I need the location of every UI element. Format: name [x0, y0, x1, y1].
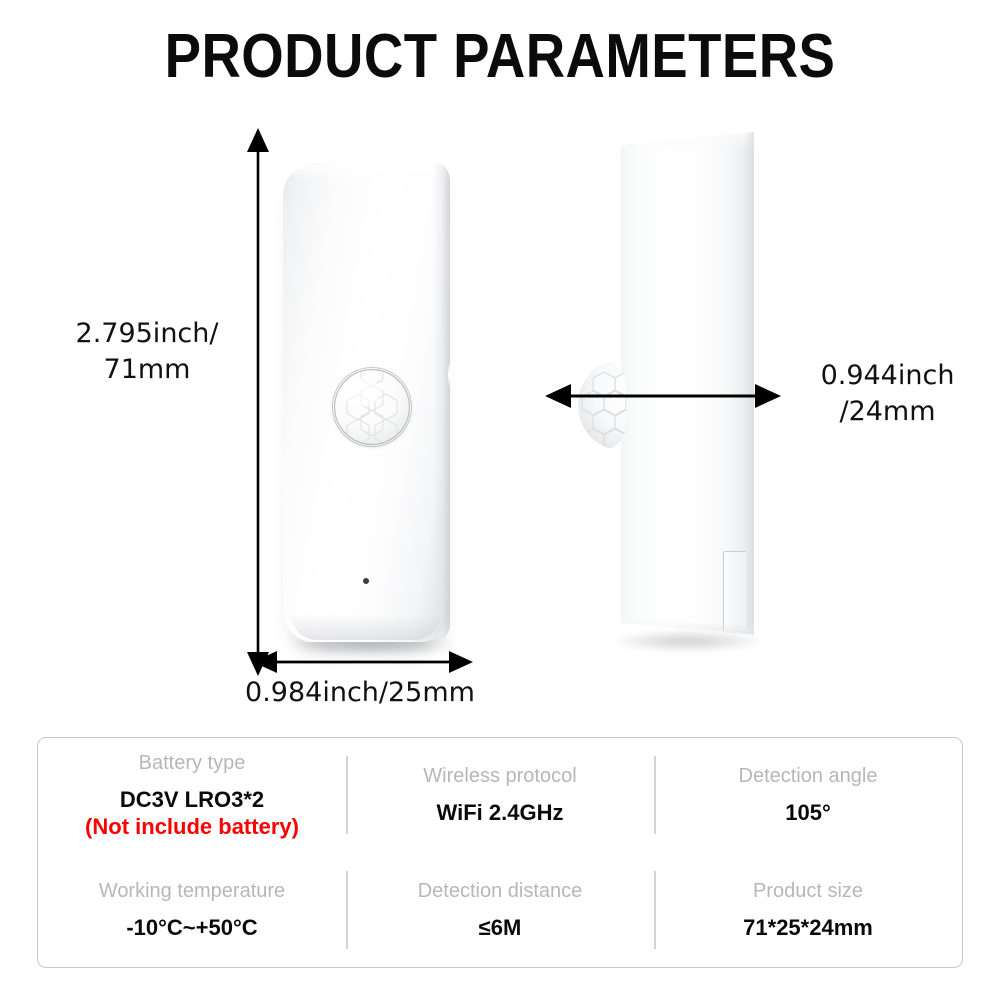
product-specification-table: Battery type DC3V LRO3*2 (Not include ba… [37, 737, 963, 968]
led-indicator [363, 578, 369, 584]
spec-value: 105° [785, 799, 831, 826]
side-view-shadow [612, 632, 764, 652]
spec-value: DC3V LRO3*2 [120, 786, 264, 813]
spec-label: Working temperature [99, 879, 285, 903]
depth-dimension-label: 0.944inch /24mm [780, 358, 995, 430]
page-title: PRODUCT PARAMETERS [60, 22, 940, 92]
spec-cell-working-temperature: Working temperature -10°C~+50°C [38, 853, 346, 968]
spec-value: ≤6M [479, 914, 522, 941]
front-top-highlight [293, 165, 438, 181]
front-right-edge [433, 162, 450, 642]
pir-sensor-lens-icon [333, 368, 411, 446]
product-illustration: 2.795inch/ 71mm 0.984inch/25mm 0.944inch… [0, 110, 1000, 720]
height-dimension-arrow [238, 128, 278, 681]
spec-value: -10°C~+50°C [126, 914, 257, 941]
spec-cell-wireless-protocol: Wireless protocol WiFi 2.4GHz [346, 738, 654, 853]
spec-label: Wireless protocol [423, 764, 576, 788]
spec-cell-product-size: Product size 71*25*24mm [654, 853, 962, 968]
spec-label: Battery type [139, 751, 246, 775]
spec-cell-battery-type: Battery type DC3V LRO3*2 (Not include ba… [38, 738, 346, 853]
battery-door [723, 551, 746, 630]
spec-value: WiFi 2.4GHz [437, 799, 564, 826]
spec-label: Detection angle [739, 764, 878, 788]
table-row: Working temperature -10°C~+50°C Detectio… [38, 853, 962, 968]
width-dimension-label: 0.984inch/25mm [195, 675, 525, 711]
spec-cell-detection-distance: Detection distance ≤6M [346, 853, 654, 968]
spec-label: Detection distance [418, 879, 583, 903]
spec-label: Product size [753, 879, 863, 903]
spec-cell-detection-angle: Detection angle 105° [654, 738, 962, 853]
side-button [448, 364, 452, 386]
table-row: Battery type DC3V LRO3*2 (Not include ba… [38, 738, 962, 853]
spec-value: 71*25*24mm [743, 914, 873, 941]
front-bottom-shade [291, 614, 440, 640]
depth-dimension-arrow [545, 378, 781, 419]
height-dimension-label: 2.795inch/ 71mm [52, 316, 242, 388]
spec-note: (Not include battery) [85, 813, 299, 840]
side-top-face [618, 132, 754, 154]
